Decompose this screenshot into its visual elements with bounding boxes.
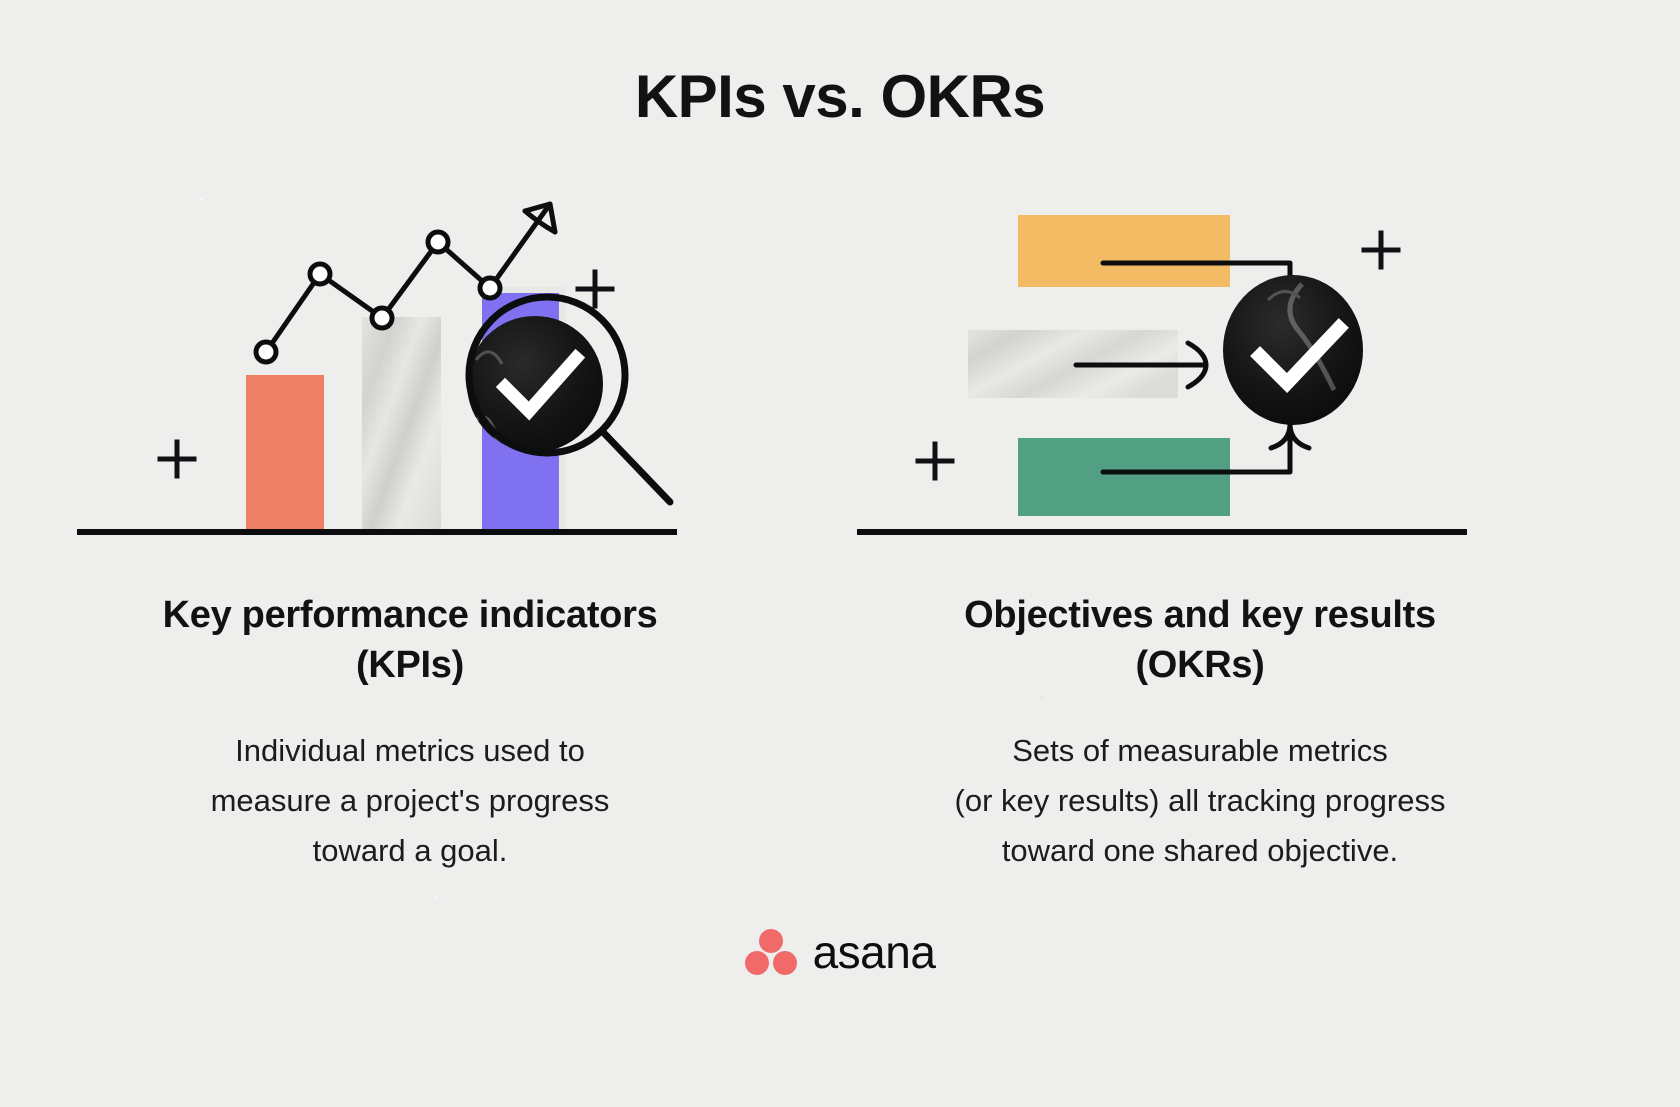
asana-logo-mark — [745, 928, 797, 976]
okr-heading-line-1: Objectives and key results — [850, 590, 1550, 640]
okr-description: Sets of measurable metrics (or key resul… — [850, 726, 1550, 877]
okr-description-line-3: toward one shared objective. — [850, 826, 1550, 876]
okr-description-line-1: Sets of measurable metrics — [850, 726, 1550, 776]
kpi-heading-line-2: (KPIs) — [60, 640, 760, 690]
kpi-description-line-1: Individual metrics used to — [60, 726, 760, 776]
bar-green — [1018, 438, 1230, 516]
plus-icon — [160, 442, 194, 476]
okr-illustration — [850, 180, 1550, 560]
bar-amber — [1018, 215, 1230, 287]
plus-icon — [1364, 233, 1398, 267]
plus-icon — [578, 272, 612, 306]
bar-marble — [362, 317, 441, 530]
page-title: KPIs vs. OKRs — [0, 62, 1680, 131]
kpi-illustration-column — [70, 180, 770, 560]
kpi-heading: Key performance indicators (KPIs) — [60, 590, 760, 690]
kpi-description: Individual metrics used to measure a pro… — [60, 726, 760, 877]
kpi-heading-line-1: Key performance indicators — [60, 590, 760, 640]
magnifier-handle — [602, 431, 670, 502]
kpi-description-line-3: toward a goal. — [60, 826, 760, 876]
plus-icon — [918, 444, 952, 478]
okr-description-line-2: (or key results) all tracking progress — [850, 776, 1550, 826]
bar-coral — [246, 375, 324, 530]
ink-circle — [467, 316, 603, 452]
kpi-illustration — [70, 180, 770, 560]
goal-badge — [1223, 275, 1363, 425]
okr-heading-line-2: (OKRs) — [850, 640, 1550, 690]
infographic-canvas: KPIs vs. OKRs — [0, 0, 1680, 1107]
asana-wordmark: asana — [813, 929, 936, 975]
okr-illustration-column — [850, 180, 1550, 560]
okr-heading: Objectives and key results (OKRs) — [850, 590, 1550, 690]
asana-logo: asana — [0, 928, 1680, 976]
kpi-description-line-2: measure a project's progress — [60, 776, 760, 826]
